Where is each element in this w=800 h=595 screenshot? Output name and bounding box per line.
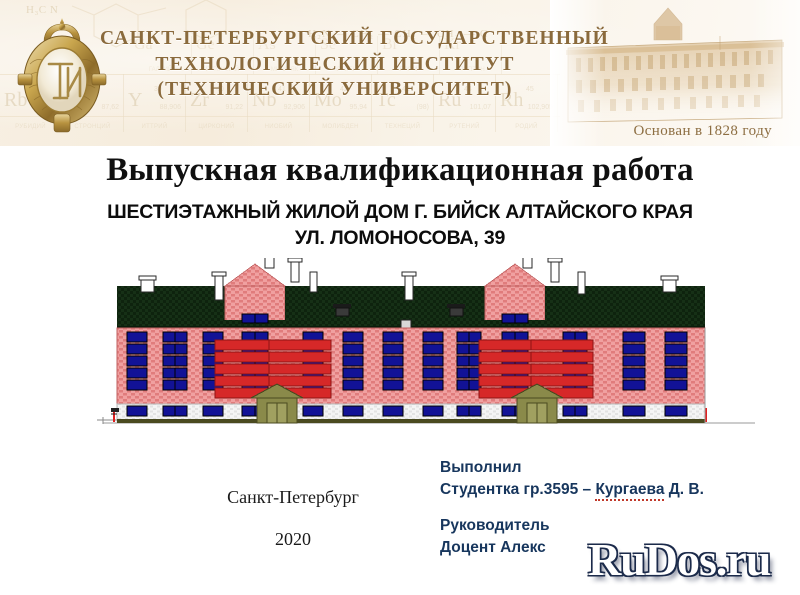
element-name: РОДИЙ (496, 124, 557, 130)
student-initials: Д. В. (664, 481, 703, 498)
page-title: Выпускная квалификационная работа (0, 152, 800, 189)
site-watermark: RuDos.ru (588, 533, 770, 586)
year-label: 2020 (163, 529, 423, 550)
student-line: Студентка гр.3595 – Кургаева Д. В. (440, 479, 790, 501)
founded-year-text: Основан в 1828 году (634, 123, 773, 140)
element-mass: (98) (417, 104, 429, 111)
university-line-2: ТЕХНОЛОГИЧЕСКИЙ ИНСТИТУТ (100, 52, 570, 78)
element-name: НИОБИЙ (248, 124, 309, 130)
city-label: Санкт-Петербург (163, 487, 423, 508)
header-banner: H₃C N H₂N — CH₂ — CH₂ — CH₂ — C Ga ГАЛЛИ… (0, 0, 800, 146)
element-mass: 95,94 (349, 104, 367, 111)
performed-by-label: Выполнил (440, 457, 790, 479)
subtitle-line-2: УЛ. ЛОМОНОСОВА, 39 (0, 226, 800, 252)
element-name: РУТЕНИЙ (434, 124, 495, 130)
element-mass: 91,22 (225, 104, 243, 111)
university-line-3: (ТЕХНИЧЕСКИЙ УНИВЕРСИТЕТ) (100, 77, 570, 103)
spbsti-emblem (10, 14, 114, 136)
element-name: МОЛИБДЕН (310, 124, 371, 130)
page-subtitle: ШЕСТИЭТАЖНЫЙ ЖИЛОЙ ДОМ Г. БИЙСК АЛТАЙСКО… (0, 200, 800, 251)
element-name: ТЕХНЕЦИЙ (372, 124, 433, 130)
subtitle-line-1: ШЕСТИЭТАЖНЫЙ ЖИЛОЙ ДОМ Г. БИЙСК АЛТАЙСКО… (0, 200, 800, 226)
element-mass: 101,07 (470, 104, 491, 111)
element-mass: 92,906 (284, 104, 305, 111)
element-name: ИТТРИЙ (124, 124, 185, 130)
student-prefix: Студентка гр.3595 – (440, 481, 595, 498)
element-mass: 88,906 (160, 104, 181, 111)
university-line-1: САНКТ-ПЕТЕРБУРГСКИЙ ГОСУДАРСТВЕННЫЙ (100, 26, 570, 52)
credits-spacer (440, 502, 790, 515)
element-name: ЦИРКОНИЙ (186, 124, 247, 130)
student-name: Кургаева (595, 481, 664, 501)
university-name: САНКТ-ПЕТЕРБУРГСКИЙ ГОСУДАРСТВЕННЫЙ ТЕХН… (100, 26, 570, 103)
building-elevation-drawing (55, 258, 755, 458)
